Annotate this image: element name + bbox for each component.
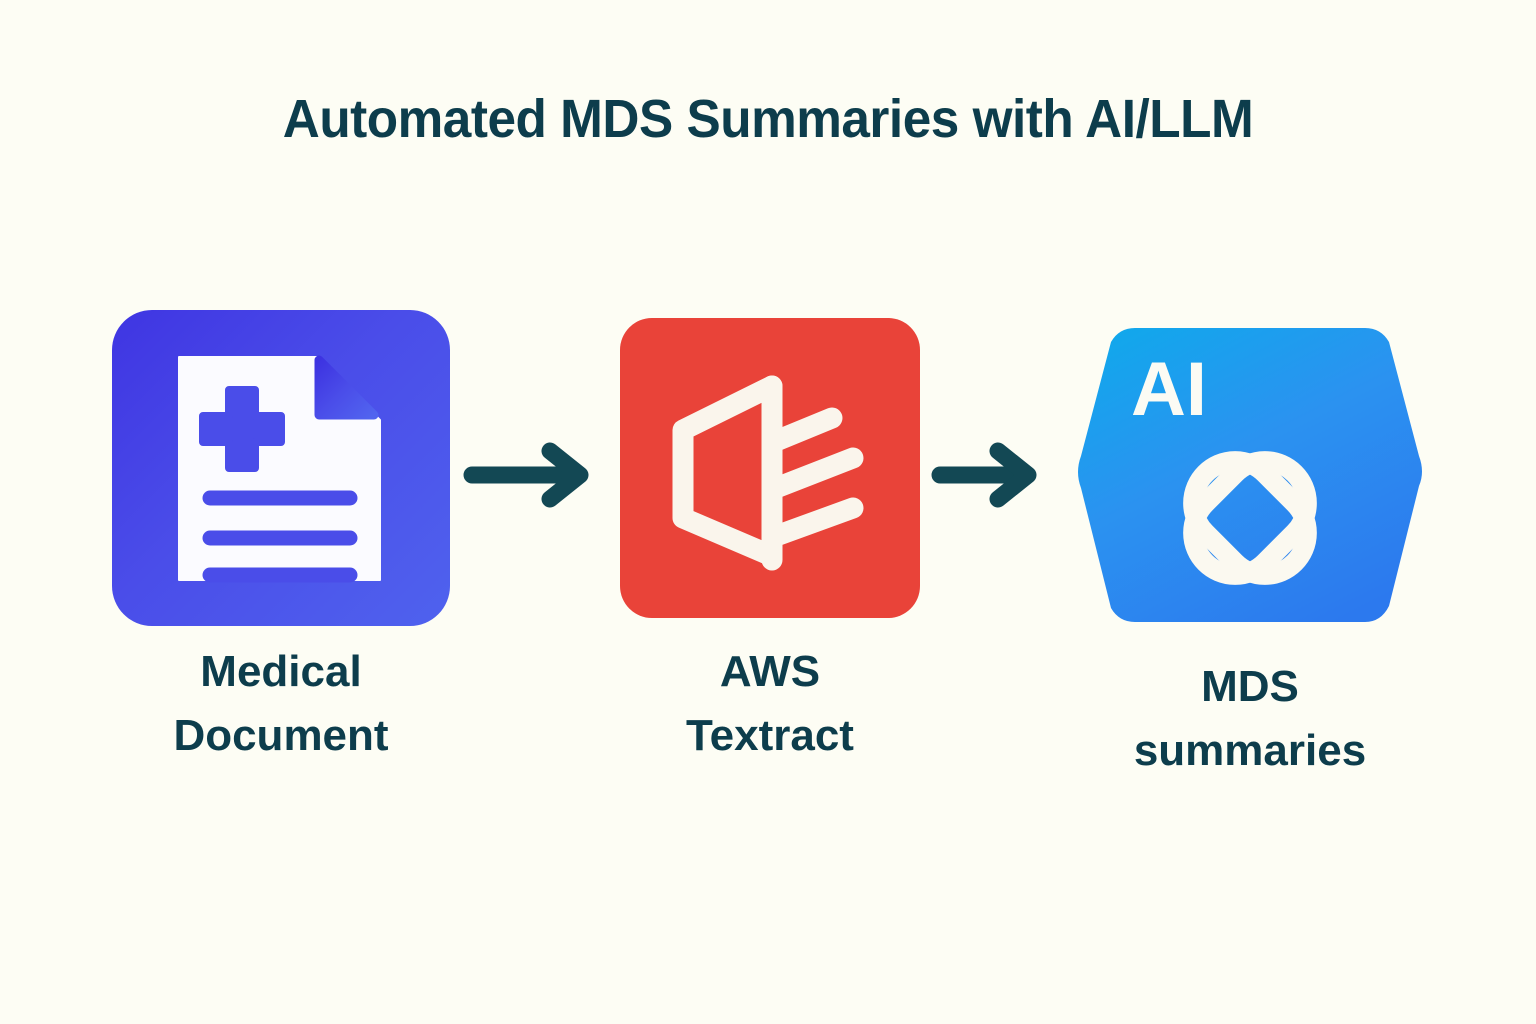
flow-node-label-medical-document: Medical Document bbox=[173, 640, 388, 768]
ai-badge-text: AI bbox=[1131, 347, 1207, 432]
mds-summaries-icon[interactable]: AI bbox=[1075, 310, 1425, 640]
aws-textract-icon[interactable] bbox=[620, 318, 920, 618]
flow-node-mds-summaries[interactable]: AI MDS summaries bbox=[1075, 310, 1425, 640]
label-line-2: summaries bbox=[1134, 719, 1366, 783]
page-title: Automated MDS Summaries with AI/LLM bbox=[38, 88, 1497, 150]
label-line-1: MDS bbox=[1134, 655, 1366, 719]
flow-arrow-2 bbox=[930, 440, 1050, 515]
aws-textract-glyph bbox=[620, 318, 920, 618]
diagram-canvas: Automated MDS Summaries with AI/LLM bbox=[0, 0, 1536, 1024]
label-line-2: Textract bbox=[686, 704, 854, 768]
flow-arrow-1 bbox=[462, 440, 602, 515]
flow-node-label-aws-textract: AWS Textract bbox=[686, 640, 854, 768]
flow-node-aws-textract[interactable]: AWS Textract bbox=[620, 310, 920, 618]
label-line-2: Document bbox=[173, 704, 388, 768]
flow-node-medical-document[interactable]: Medical Document bbox=[112, 310, 450, 626]
label-line-1: AWS bbox=[686, 640, 854, 704]
medical-document-glyph bbox=[112, 310, 450, 626]
label-line-1: Medical bbox=[173, 640, 388, 704]
arrow-right-icon bbox=[462, 440, 602, 510]
arrow-right-icon bbox=[930, 440, 1050, 510]
flow-node-label-mds-summaries: MDS summaries bbox=[1134, 655, 1366, 783]
ai-hexagon-glyph: AI bbox=[1075, 310, 1425, 640]
medical-document-icon[interactable] bbox=[112, 310, 450, 626]
